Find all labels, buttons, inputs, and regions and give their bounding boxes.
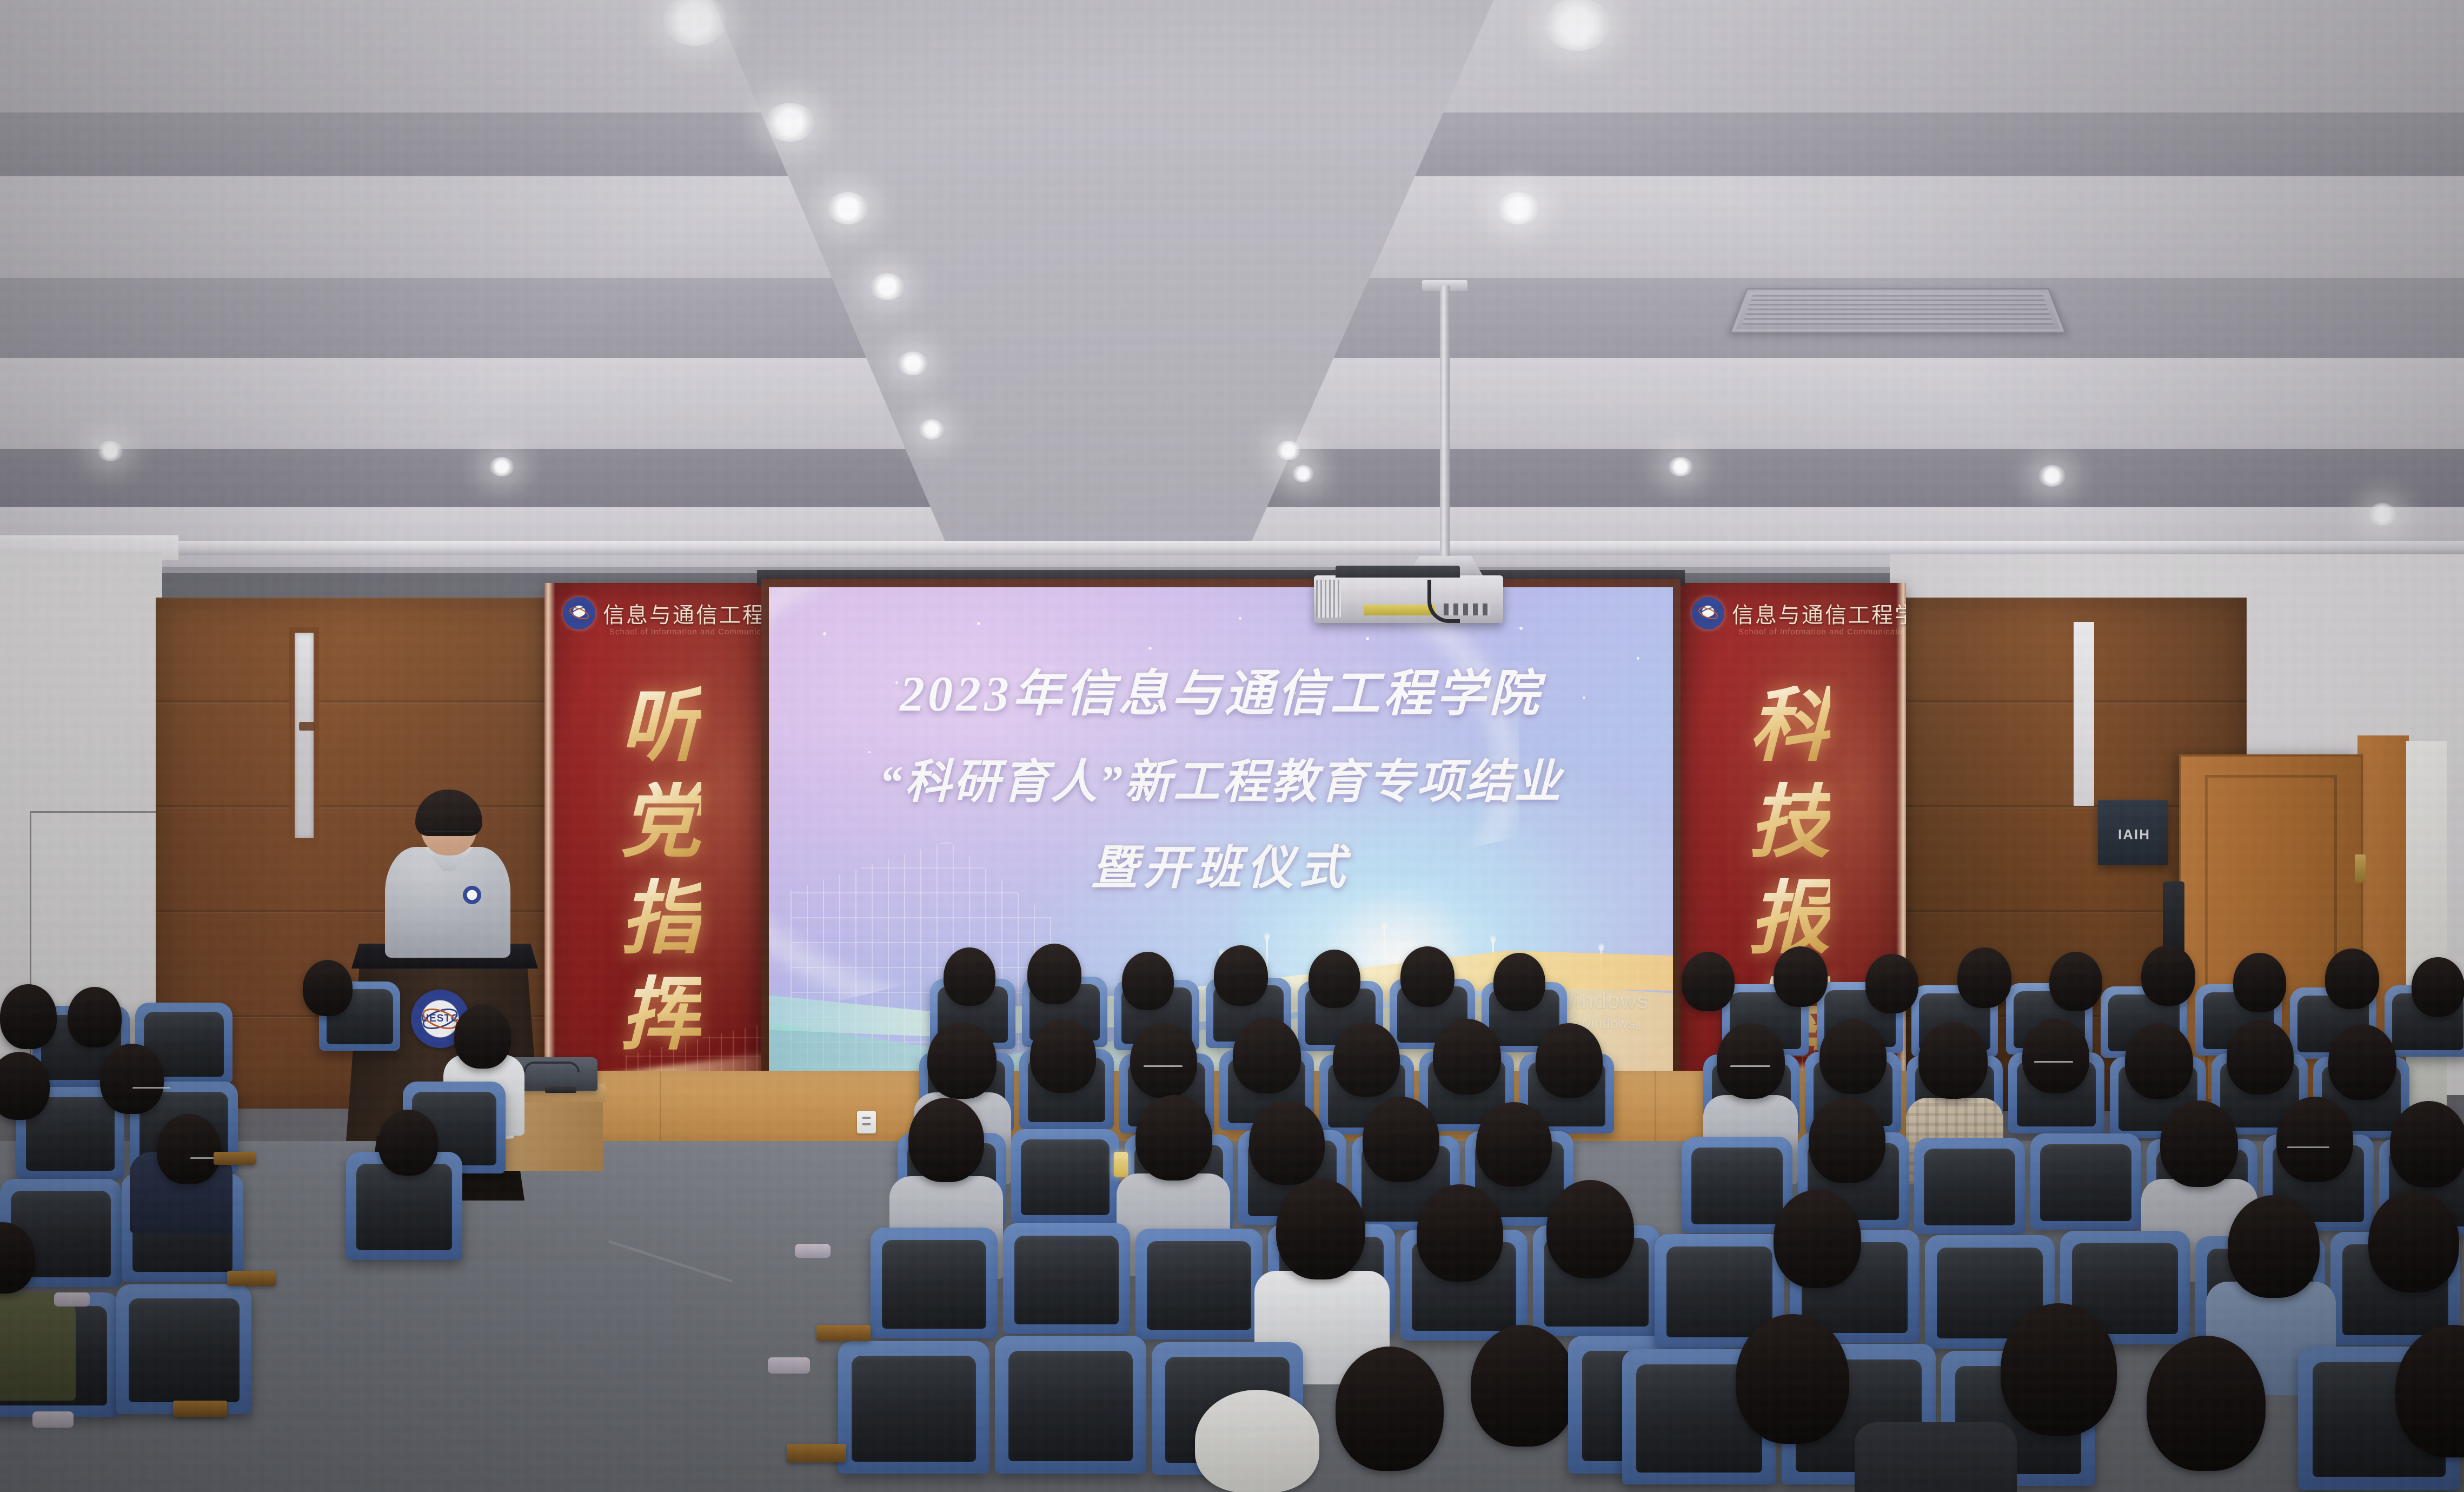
ceiling-downlight [489, 457, 514, 476]
projector-mount-pole [1440, 286, 1450, 567]
seat[interactable] [995, 1336, 1146, 1474]
presenter-logo-badge [463, 886, 481, 904]
attendee-head [1819, 1019, 1887, 1094]
ceiling-downlight [1668, 457, 1693, 476]
attendee-head [1336, 1347, 1444, 1471]
attendee-head [2233, 953, 2286, 1012]
ceiling-downlight [1276, 441, 1301, 460]
attendee-head [1249, 1100, 1325, 1185]
banner-slogan-char: 报 [1749, 878, 1830, 959]
attendee-head [1736, 1314, 1849, 1444]
wall-slot-window [289, 627, 319, 844]
seat[interactable] [116, 1284, 251, 1414]
banner-slogan-char: 指 [620, 878, 701, 959]
banner-header: 信息与通信工程学院 [563, 597, 766, 629]
attendee-head [454, 1005, 511, 1069]
ceiling-air-vent [1729, 288, 2067, 333]
banner-org-name: 信息与通信工程学院 [603, 598, 777, 629]
attendee-head [378, 1110, 438, 1176]
ceiling-crown-molding [0, 541, 2464, 555]
banner-org-name-en: School of Information and Communication … [1738, 627, 1906, 636]
wall-speaker: HIAI [2098, 800, 2168, 865]
wall-slot-window [2074, 622, 2094, 806]
seat-armrest [795, 1244, 831, 1258]
attendee-head [1809, 1098, 1885, 1183]
presenter-glasses [424, 831, 474, 838]
presenter-at-podium [368, 795, 524, 973]
seat[interactable] [1914, 1138, 2025, 1234]
attendee-head [1276, 1179, 1365, 1279]
attendee-glasses [1144, 1065, 1183, 1071]
seat[interactable] [1682, 1137, 1792, 1233]
ceiling-downlight [2038, 465, 2065, 487]
seat[interactable] [2030, 1133, 2141, 1230]
seat[interactable] [1011, 1129, 1119, 1224]
attendee-head [1918, 1022, 1988, 1099]
university-seal-icon [1692, 597, 1724, 629]
seat-armrest [54, 1292, 90, 1307]
attendee-glasses [2034, 1061, 2073, 1066]
attendee-head [0, 984, 57, 1049]
seat-writing-tablet[interactable] [816, 1325, 871, 1341]
attendee-head [157, 1114, 221, 1184]
door-handle[interactable] [2355, 854, 2366, 883]
attendee-head [1865, 954, 1918, 1013]
attendee-head [2022, 1019, 2089, 1093]
seat-armrest [768, 1357, 810, 1374]
attendee-head [2325, 949, 2379, 1009]
attendee-glasses [132, 1087, 170, 1092]
screen-title-block: 2023年信息与通信工程学院 “科研育人”新工程教育专项结业 暨开班仪式 [769, 653, 1673, 897]
attendee-head [1717, 1023, 1785, 1099]
attendee-head [1774, 1190, 1861, 1288]
attendee-head [68, 987, 122, 1047]
banner-slogan-char: 听 [620, 686, 701, 767]
ceiling-downlight [1544, 0, 1611, 51]
attendee-head [2328, 1024, 2396, 1100]
attendee-head [1774, 946, 1828, 1007]
attendee-head [2227, 1020, 2294, 1095]
attendee-head [1536, 1023, 1603, 1098]
attendee-shirt [1855, 1422, 2017, 1492]
banner-slogan-char: 党 [620, 782, 701, 863]
projector-top-block [1336, 566, 1460, 578]
attendee-head [1333, 1022, 1400, 1097]
attendee-head [1363, 1097, 1439, 1182]
seat-armrest [32, 1411, 74, 1428]
attendee-head [1957, 947, 2011, 1008]
attendee-head [1546, 1180, 1634, 1278]
ceiling-downlight [97, 441, 123, 461]
attendee-head [1493, 953, 1545, 1011]
seat-writing-tablet[interactable] [787, 1444, 846, 1462]
university-seal-icon [563, 597, 595, 629]
attendee-head [1130, 1023, 1197, 1098]
attendee-head [2390, 1101, 2464, 1188]
ceiling-projector [1314, 575, 1503, 623]
attendee-head [2276, 1097, 2353, 1182]
seat[interactable] [838, 1341, 989, 1474]
projector-vent-grille [1316, 580, 1341, 618]
attendee-head [100, 1044, 164, 1114]
presenter-hair [415, 790, 482, 836]
ceiling-downlight [827, 192, 868, 224]
attendee-head [1233, 1018, 1301, 1093]
attendee-head [908, 1098, 984, 1182]
attendee-head [2228, 1195, 2320, 1298]
attendee-shirt [0, 1292, 76, 1401]
screen-title-line-3: 暨开班仪式 [769, 830, 1673, 897]
auditorium-photo: HIAI 信息与通信工程学院 School of Information and… [0, 0, 2464, 1492]
screen-title-line-1: 2023年信息与通信工程学院 [769, 653, 1673, 725]
attendee-head [1471, 1325, 1576, 1447]
attendee-phone[interactable] [1114, 1152, 1128, 1177]
attendee-head [927, 1022, 997, 1099]
attendee-head [1309, 950, 1360, 1008]
attendee-white-cap [1195, 1390, 1319, 1492]
projector-label-sticker [1364, 605, 1435, 615]
attendee-head [2147, 1336, 2266, 1471]
attendee-head [1027, 944, 1081, 1004]
attendee-head [1433, 1019, 1501, 1095]
attendee-head [1417, 1184, 1503, 1282]
ceiling-downlight [919, 419, 944, 440]
attendee-head [1400, 946, 1455, 1007]
attendee-head [2125, 1023, 2193, 1099]
attendee-head [1135, 1095, 1212, 1181]
attendee-head [2160, 1100, 2238, 1187]
banner-header: 信息与通信工程学院 [1692, 597, 1895, 629]
attendee-head [2368, 1191, 2459, 1292]
attendee-head [2412, 957, 2464, 1017]
seat[interactable] [871, 1228, 998, 1338]
seat-writing-tablet[interactable] [173, 1401, 227, 1417]
attendee-head [303, 960, 353, 1016]
audience-seating-area [0, 990, 2464, 1492]
ceiling-downlight [2368, 503, 2396, 526]
ceiling-downlight [871, 273, 904, 300]
attendee-head [1682, 952, 1735, 1011]
attendee-head [2001, 1303, 2117, 1436]
banner-slogan-char: 技 [1749, 782, 1830, 863]
screen-title-line-2: “科研育人”新工程教育专项结业 [769, 744, 1673, 811]
attendee-head [2141, 945, 2195, 1006]
ceiling-downlight [765, 103, 815, 142]
attendee-head [1476, 1102, 1552, 1186]
banner-slogan-char: 科 [1749, 686, 1830, 767]
attendee-head [1214, 945, 1268, 1006]
attendee-glasses [2287, 1146, 2329, 1152]
attendee-head [1030, 1019, 1096, 1093]
ceiling-downlight [1498, 192, 1539, 224]
speaker-brand-label: HIAI [2098, 826, 2168, 843]
seat[interactable] [1135, 1229, 1263, 1340]
banner-org-name-en: School of Information and Communication … [609, 627, 777, 636]
attendee-head [1122, 952, 1174, 1010]
seat-writing-tablet[interactable] [227, 1271, 276, 1286]
attendee-glasses [1730, 1065, 1770, 1071]
ceiling-downlight [898, 352, 928, 375]
attendee-head [944, 947, 995, 1006]
seat[interactable] [1003, 1223, 1130, 1334]
seat-writing-tablet[interactable] [214, 1152, 256, 1165]
attendee-head [2049, 952, 2102, 1011]
banner-org-name: 信息与通信工程学院 [1732, 598, 1906, 629]
ceiling-downlight [1292, 465, 1314, 482]
